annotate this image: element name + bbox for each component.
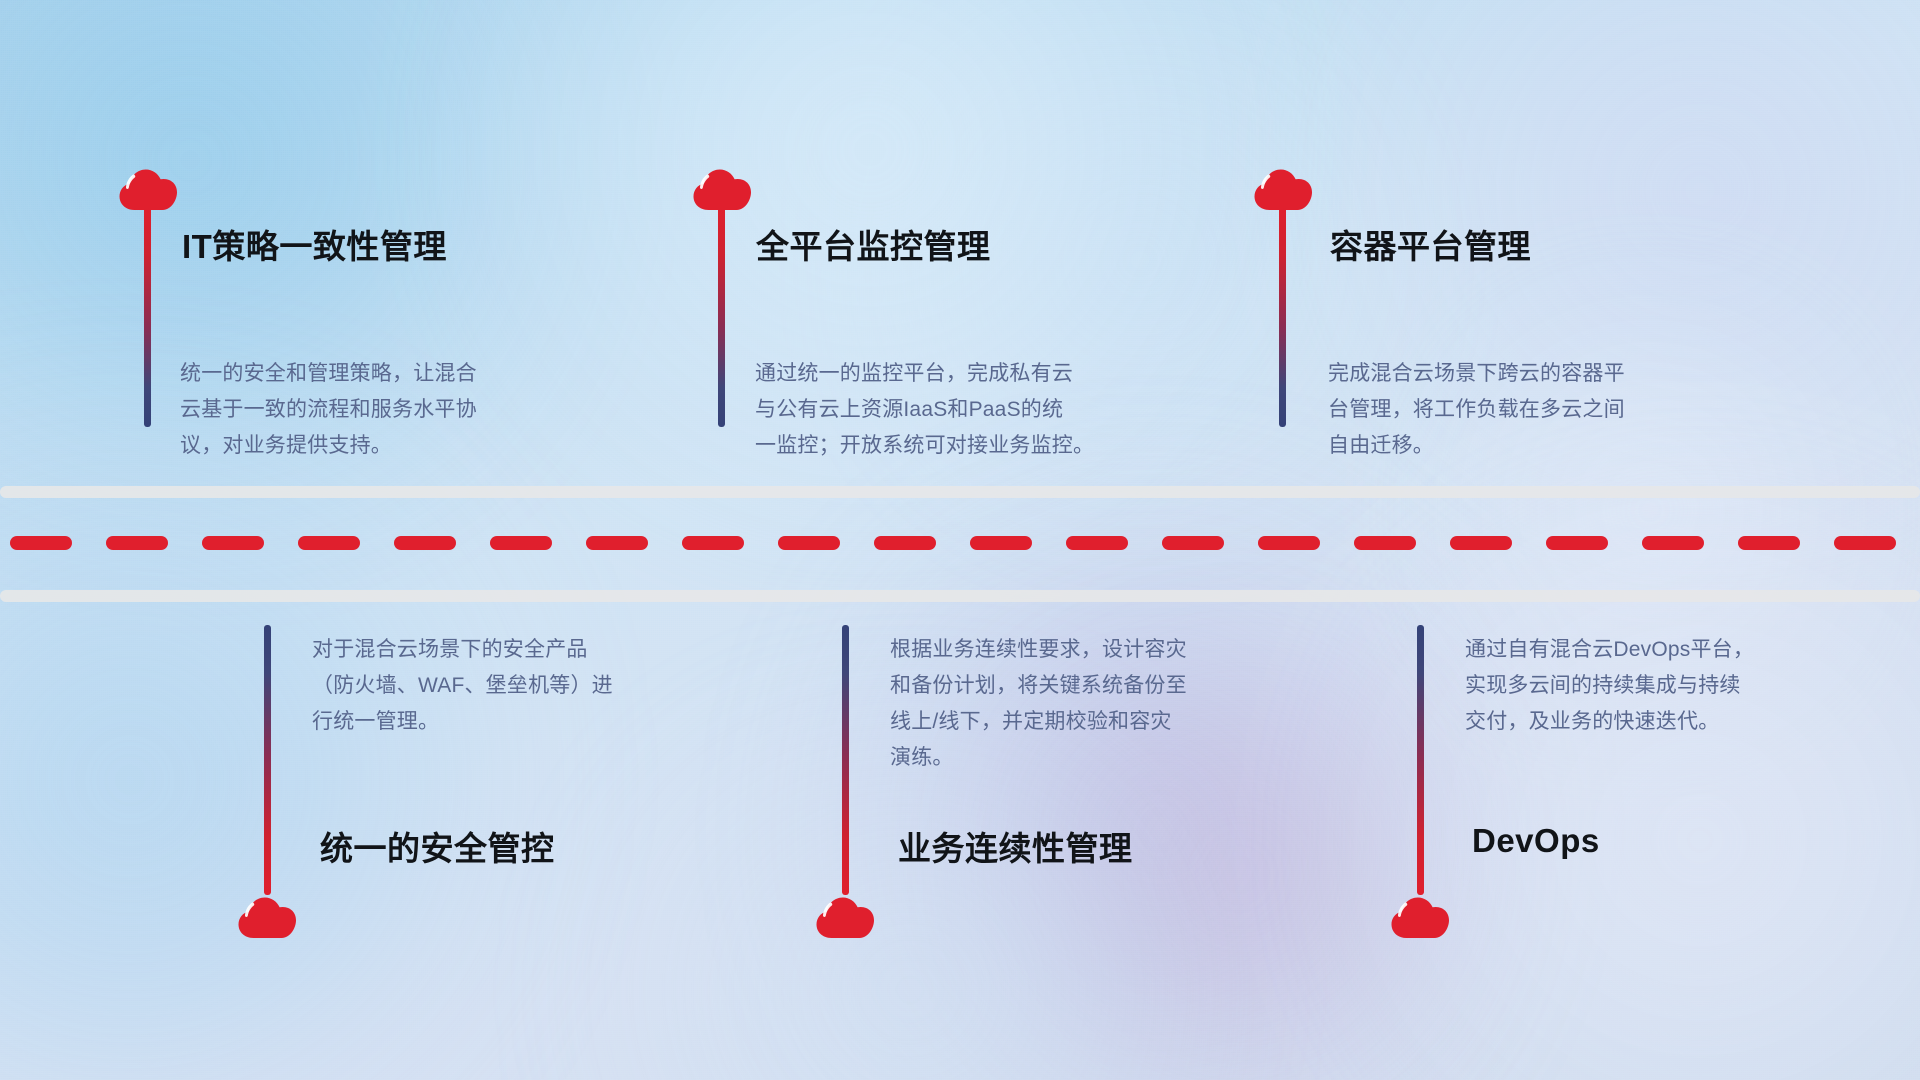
divider-dash: [1258, 536, 1320, 550]
divider-dash: [10, 536, 72, 550]
divider-rail-bottom: [0, 590, 1920, 602]
card-title: 全平台监控管理: [756, 220, 991, 268]
divider-dash: [586, 536, 648, 550]
cloud-icon: [692, 163, 752, 213]
cloud-icon: [815, 891, 875, 941]
divider-dash: [1834, 536, 1896, 550]
divider-dash: [970, 536, 1032, 550]
divider-dash: [298, 536, 360, 550]
pin-stem: [264, 625, 271, 895]
cloud-icon: [237, 891, 297, 941]
pin-stem: [718, 207, 725, 427]
cloud-icon: [1253, 163, 1313, 213]
divider-dash: [682, 536, 744, 550]
divider-dash: [1354, 536, 1416, 550]
card-description: 对于混合云场景下的安全产品 （防火墙、WAF、堡垒机等）进 行统一管理。: [312, 632, 752, 740]
card-title: 业务连续性管理: [898, 822, 1133, 870]
pin-stem: [1417, 625, 1424, 895]
divider-dash: [1450, 536, 1512, 550]
divider-dash: [1162, 536, 1224, 550]
card-title: 统一的安全管控: [320, 822, 555, 870]
divider-dash: [1642, 536, 1704, 550]
divider-dash: [778, 536, 840, 550]
card-description: 通过统一的监控平台，完成私有云 与公有云上资源IaaS和PaaS的统 一监控；开…: [755, 356, 1205, 464]
divider-dash: [874, 536, 936, 550]
pin-stem: [1279, 207, 1286, 427]
cloud-icon: [1390, 891, 1450, 941]
divider-dash: [1546, 536, 1608, 550]
card-description: 完成混合云场景下跨云的容器平 台管理，将工作负载在多云之间 自由迁移。: [1328, 356, 1768, 464]
card-description: 通过自有混合云DevOps平台， 实现多云间的持续集成与持续 交付，及业务的快速…: [1465, 632, 1905, 740]
card-title: IT策略一致性管理: [182, 220, 447, 268]
cloud-icon: [118, 163, 178, 213]
divider-dash: [1738, 536, 1800, 550]
divider-dash: [394, 536, 456, 550]
card-description: 统一的安全和管理策略，让混合 云基于一致的流程和服务水平协 议，对业务提供支持。: [180, 356, 610, 464]
card-title: 容器平台管理: [1330, 220, 1531, 268]
divider-dash: [1066, 536, 1128, 550]
pin-stem: [842, 625, 849, 895]
divider-rail-top: [0, 486, 1920, 498]
divider-dash: [106, 536, 168, 550]
divider-dash: [490, 536, 552, 550]
divider-dash: [202, 536, 264, 550]
card-description: 根据业务连续性要求，设计容灾 和备份计划，将关键系统备份至 线上/线下，并定期校…: [890, 632, 1330, 776]
pin-stem: [144, 207, 151, 427]
road-divider: [0, 486, 1920, 602]
card-title: DevOps: [1472, 822, 1600, 860]
